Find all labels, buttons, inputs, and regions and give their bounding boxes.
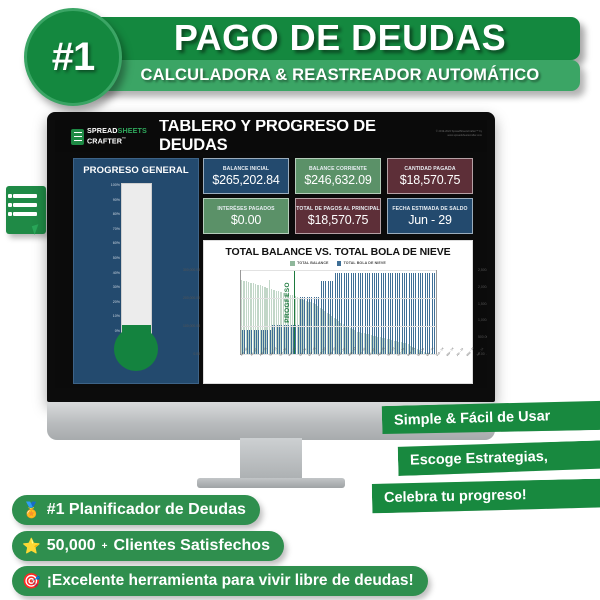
kpi-label: TOTAL DE PAGOS AL PRINCIPAL — [296, 206, 379, 212]
feature-text-planner: #1 Planificador de Deudas — [47, 501, 246, 519]
kpi-card: CANTIDAD PAGADA$18,570.75 — [387, 158, 473, 194]
chart-right-axis — [436, 270, 437, 354]
monitor-neck — [240, 438, 302, 482]
chart-legend: TOTAL BALANCETOTAL BOLA DE NIEVE — [204, 261, 472, 266]
kpi-value: Jun - 29 — [408, 213, 452, 227]
thermometer-tick: 90% — [84, 198, 120, 204]
chart-y-right-label: 1,500.00 — [478, 302, 487, 306]
kpi-label: FECHA ESTIMADA DE SALDO — [392, 206, 467, 212]
rank-badge: #1 — [24, 8, 122, 106]
thermometer-scale: 100%90%80%70%60%50%40%30%20%10%0% — [84, 183, 120, 335]
logo-word-sheets: SHEETS — [118, 126, 147, 135]
rank-badge-label: #1 — [52, 35, 95, 80]
dashboard-title: TABLERO Y PROGRESO DE DEUDAS — [159, 124, 429, 148]
kpi-value: $265,202.84 — [212, 173, 279, 187]
chart-y-left-label: 0.00 — [170, 352, 200, 356]
progress-marker-label: PROGRESO — [284, 282, 291, 323]
chart-bars — [241, 270, 437, 354]
chart-panel: TOTAL BALANCE VS. TOTAL BOLA DE NIEVE TO… — [203, 240, 473, 384]
thermometer-tick: 30% — [84, 285, 120, 291]
medal-icon: 🏅 — [22, 503, 41, 518]
banner-simple: Simple & Fácil de Usar — [382, 400, 600, 436]
thermometer-tick: 80% — [84, 212, 120, 218]
kpi-value: $0.00 — [231, 213, 261, 227]
kpi-card: INTERÉSES PAGADOS$0.00 — [203, 198, 289, 234]
thermometer-tick: 10% — [84, 314, 120, 320]
chart-plot-area: PROGRESO 0.00100,000.00200,000.00300,000… — [240, 270, 437, 355]
thermometer: 100%90%80%70%60%50%40%30%20%10%0% 7.00% — [74, 181, 198, 379]
thermometer-tick: 100% — [84, 183, 120, 189]
feature-pill-tool: 🎯 ¡Excelente herramienta para vivir libr… — [12, 566, 428, 596]
kpi-value: $18,570.75 — [400, 173, 461, 187]
logo-text: SPREADSHEETS CRAFTER™ — [87, 127, 147, 145]
thermometer-tube: 7.00% — [121, 183, 152, 337]
chart-y-left-label: 100,000.00 — [170, 324, 200, 328]
thermometer-bulb — [114, 327, 158, 371]
logo-mark-icon — [71, 129, 84, 145]
kpi-label: INTERÉSES PAGADOS — [217, 206, 274, 212]
chart-x-labels: Jun - 22Jul - 22Ago - 22Sep - 22Oct - 22… — [240, 355, 436, 377]
chart-y-right-label: 2,500.00 — [478, 268, 487, 272]
feature-text-customers-count: 50,000 — [47, 537, 96, 555]
feature-text-plus: + — [102, 541, 108, 552]
promo-subtitle: CALCULADORA & REASTREADOR AUTOMÁTICO — [110, 60, 570, 90]
kpi-label: BALANCE INICIAL — [223, 166, 269, 172]
chart-y-right-label: 500.00 — [478, 335, 487, 339]
legend-swatch — [337, 261, 342, 266]
promo-header: PAGO DE DEUDAS CALCULADORA & REASTREADOR… — [0, 0, 600, 108]
feature-text-tool: ¡Excelente herramienta para vivir libre … — [47, 572, 414, 590]
chart-gridline — [241, 326, 437, 327]
kpi-card: BALANCE CORRIENTE$246,632.09 — [295, 158, 381, 194]
banner-strategies: Escoge Estrategias, — [398, 440, 600, 476]
legend-item: TOTAL BOLA DE NIEVE — [337, 261, 386, 266]
legend-item: TOTAL BALANCE — [290, 261, 328, 266]
kpi-value: $18,570.75 — [308, 213, 369, 227]
feature-pill-customers: ⭐ 50,000+ Clientes Satisfechos — [12, 531, 284, 561]
chart-y-right-label: 2,000.00 — [478, 285, 487, 289]
promo-title: PAGO DE DEUDAS — [130, 14, 550, 62]
logo-tm: ™ — [122, 136, 126, 141]
dashboard-body: PROGRESO GENERAL 100%90%80%70%60%50%40%3… — [55, 152, 487, 388]
logo-word-crafter: CRAFTER — [87, 137, 122, 146]
kpi-card: FECHA ESTIMADA DE SALDOJun - 29 — [387, 198, 473, 234]
chart-y-right-label: 1,000.00 — [478, 318, 487, 322]
legend-label: TOTAL BOLA DE NIEVE — [344, 261, 386, 265]
spreadsheet-icon — [6, 186, 46, 234]
kpi-card: BALANCE INICIAL$265,202.84 — [203, 158, 289, 194]
kpi-card: TOTAL DE PAGOS AL PRINCIPAL$18,570.75 — [295, 198, 381, 234]
kpi-value: $246,632.09 — [304, 173, 371, 187]
dashboard-topbar: SPREADSHEETS CRAFTER™ TABLERO Y PROGRESO… — [55, 120, 487, 152]
monitor-foot — [197, 478, 345, 488]
thermometer-tick: 0% — [84, 329, 120, 335]
chart-gridline — [241, 298, 437, 299]
monitor-mockup: SPREADSHEETS CRAFTER™ TABLERO Y PROGRESO… — [47, 112, 495, 402]
legend-swatch — [290, 261, 295, 266]
chart-y-left-label: 200,000.00 — [170, 296, 200, 300]
logo-word-spread: SPREAD — [87, 126, 118, 135]
thermometer-tick: 70% — [84, 227, 120, 233]
banner-celebrate: Celebra tu progreso! — [372, 479, 600, 514]
thermometer-tick: 60% — [84, 241, 120, 247]
kpi-grid: BALANCE INICIAL$265,202.84BALANCE CORRIE… — [203, 158, 471, 234]
chart-title: TOTAL BALANCE VS. TOTAL BOLA DE NIEVE — [204, 246, 472, 258]
brand-logo: SPREADSHEETS CRAFTER™ — [71, 127, 159, 146]
chart-y-left-label: 300,000.00 — [170, 268, 200, 272]
star-icon: ⭐ — [22, 539, 41, 554]
kpi-label: CANTIDAD PAGADA — [404, 166, 455, 172]
thermometer-tick: 40% — [84, 271, 120, 277]
feature-pill-planner: 🏅 #1 Planificador de Deudas — [12, 495, 260, 525]
progress-heading: PROGRESO GENERAL — [74, 165, 198, 176]
chart-gridline — [241, 270, 437, 271]
target-icon: 🎯 — [22, 574, 41, 589]
progress-marker-line — [294, 270, 295, 354]
legend-label: TOTAL BALANCE — [297, 261, 328, 265]
feature-text-customers-rest: Clientes Satisfechos — [113, 537, 270, 555]
kpi-label: BALANCE CORRIENTE — [309, 166, 367, 172]
thermometer-tick: 50% — [84, 256, 120, 262]
thermometer-tick: 20% — [84, 300, 120, 306]
copyright-note: © 2019-2024 SpreadSheetsCrafter™ by www.… — [426, 130, 482, 137]
dashboard-screen: SPREADSHEETS CRAFTER™ TABLERO Y PROGRESO… — [55, 120, 487, 388]
